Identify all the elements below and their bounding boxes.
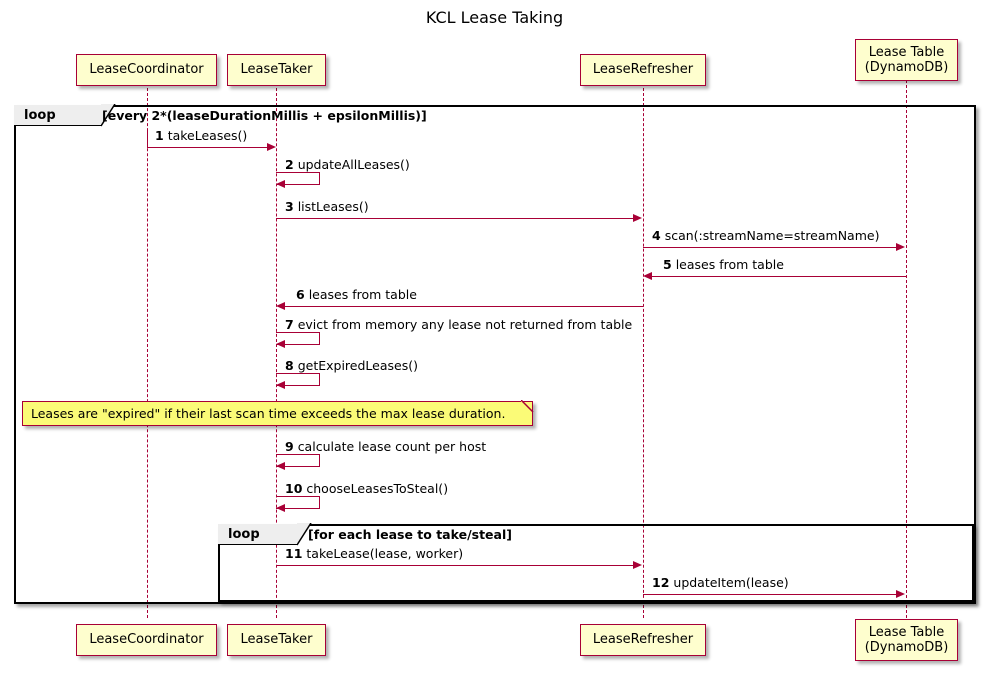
participant-lease-refresher-bottom[interactable]: LeaseRefresher [580, 624, 706, 656]
message-seq: 8 [285, 358, 294, 373]
participant-label: Lease Table (DynamoDB) [865, 625, 949, 656]
message-seq: 10 [285, 481, 302, 496]
message-text: scan(:streamName=streamName) [665, 228, 880, 243]
participant-lease-table-bottom[interactable]: Lease Table (DynamoDB) [855, 619, 958, 661]
message-seq: 1 [155, 128, 164, 143]
group-tab-outer-loop: loop [14, 105, 102, 126]
group-tab-inner-loop: loop [218, 524, 298, 545]
participant-label: LeaseCoordinator [89, 62, 203, 77]
participant-label: LeaseTaker [241, 62, 313, 77]
message-text: listLeases() [298, 199, 369, 214]
message-label-2: 2 updateAllLeases() [285, 157, 410, 172]
message-seq: 6 [296, 287, 305, 302]
message-seq: 11 [285, 546, 302, 561]
message-arrowhead-5 [643, 272, 652, 280]
message-source-stub-1 [147, 130, 148, 147]
message-text: leases from table [309, 287, 417, 302]
note-expired-leases: Leases are "expired" if their last scan … [22, 401, 533, 426]
message-label-11: 11 takeLease(lease, worker) [285, 546, 463, 561]
message-label-10: 10 chooseLeasesToSteal() [285, 481, 448, 496]
message-arrow-12 [643, 594, 898, 595]
message-arrowhead-1 [267, 143, 276, 151]
message-seq: 12 [652, 575, 669, 590]
message-label-4: 4 scan(:streamName=streamName) [652, 228, 879, 243]
participant-lease-table-top[interactable]: Lease Table (DynamoDB) [855, 39, 958, 81]
participant-label: LeaseCoordinator [89, 632, 203, 647]
message-arrow-5 [652, 276, 906, 277]
message-seq: 3 [285, 199, 294, 214]
message-label-8: 8 getExpiredLeases() [285, 358, 418, 373]
message-arrow-11 [276, 565, 635, 566]
message-arrowhead-7 [276, 340, 285, 348]
note-fold-corner [521, 400, 537, 416]
sequence-diagram: KCL Lease Taking LeaseCoordinator LeaseT… [0, 0, 989, 681]
message-text: getExpiredLeases() [298, 358, 418, 373]
message-text: evict from memory any lease not returned… [298, 317, 633, 332]
page-title: KCL Lease Taking [0, 8, 989, 27]
message-text: calculate lease count per host [298, 439, 486, 454]
note-text: Leases are "expired" if their last scan … [31, 406, 505, 421]
message-arrowhead-4 [896, 243, 905, 251]
message-arrow-4 [643, 247, 898, 248]
message-seq: 5 [663, 257, 672, 272]
message-seq: 7 [285, 317, 294, 332]
participant-lease-taker-top[interactable]: LeaseTaker [227, 54, 326, 86]
message-arrowhead-6 [276, 302, 285, 310]
message-text: updateItem(lease) [673, 575, 788, 590]
participant-label: LeaseRefresher [593, 62, 693, 77]
message-text: updateAllLeases() [298, 157, 410, 172]
message-arrowhead-3 [633, 214, 642, 222]
participant-lease-coordinator-bottom[interactable]: LeaseCoordinator [76, 624, 217, 656]
message-text: takeLeases() [168, 128, 248, 143]
message-arrowhead-11 [633, 561, 642, 569]
message-arrow-6 [285, 306, 643, 307]
group-condition-outer-loop: [every 2*(leaseDurationMillis + epsilonM… [102, 108, 427, 123]
participant-lease-taker-bottom[interactable]: LeaseTaker [227, 624, 326, 656]
message-seq: 2 [285, 157, 294, 172]
message-arrow-3 [276, 218, 635, 219]
participant-label: LeaseRefresher [593, 632, 693, 647]
message-seq: 9 [285, 439, 294, 454]
group-condition-inner-loop: [for each lease to take/steal] [308, 527, 512, 542]
message-arrow-1 [147, 147, 269, 148]
participant-lease-refresher-top[interactable]: LeaseRefresher [580, 54, 706, 86]
message-arrowhead-8 [276, 381, 285, 389]
participant-label: Lease Table (DynamoDB) [865, 45, 949, 76]
message-arrowhead-9 [276, 462, 285, 470]
participant-lease-coordinator-top[interactable]: LeaseCoordinator [76, 54, 217, 86]
message-seq: 4 [652, 228, 661, 243]
message-arrowhead-12 [896, 590, 905, 598]
message-text: takeLease(lease, worker) [306, 546, 463, 561]
message-label-1: 1 takeLeases() [155, 128, 247, 143]
group-tab-label: loop [218, 527, 269, 542]
message-label-3: 3 listLeases() [285, 199, 369, 214]
message-label-9: 9 calculate lease count per host [285, 439, 486, 454]
message-label-6: 6 leases from table [296, 287, 417, 302]
message-text: leases from table [676, 257, 784, 272]
message-label-12: 12 updateItem(lease) [652, 575, 789, 590]
message-text: chooseLeasesToSteal() [306, 481, 448, 496]
participant-label: LeaseTaker [241, 632, 313, 647]
message-arrowhead-2 [276, 180, 285, 188]
group-tab-label: loop [14, 108, 65, 123]
message-arrowhead-10 [276, 504, 285, 512]
message-label-5: 5 leases from table [663, 257, 784, 272]
message-label-7: 7 evict from memory any lease not return… [285, 317, 632, 332]
